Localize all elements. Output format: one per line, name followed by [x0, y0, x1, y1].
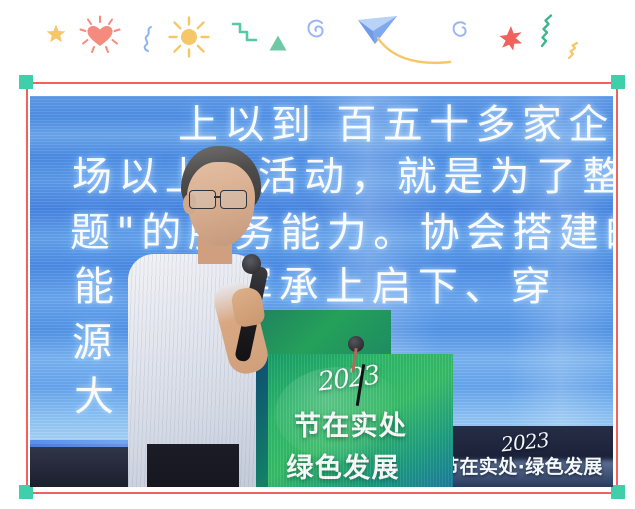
star-icon	[44, 22, 68, 46]
spiral-icon	[305, 18, 329, 44]
stage-banner: 2023 节在实处·绿色发展	[438, 426, 613, 487]
heart-burst-icon	[78, 14, 122, 58]
frame-corner-top-right	[611, 75, 625, 89]
speaker-trousers	[147, 444, 239, 487]
squiggle-icon	[142, 26, 156, 52]
zigzag-icon	[232, 22, 258, 44]
frame-corner-bottom-right	[611, 485, 625, 499]
eyeglasses-icon	[189, 190, 251, 207]
frame-line-right	[616, 82, 618, 494]
frame-line-bottom	[26, 492, 618, 494]
frame-corner-top-left	[19, 75, 33, 89]
doodle-decoration-band	[0, 0, 635, 76]
frame-line-top	[26, 82, 618, 84]
frame-line-left	[26, 82, 28, 494]
eyeglasses-lens-right	[220, 190, 247, 209]
zigzag-green-icon	[540, 14, 566, 48]
star-red-icon	[497, 24, 525, 52]
conference-speaker-photo: 上以到 百五十多家企 场以上的活动，就是为了整合 题"的服务能力。协会搭建的节 …	[30, 96, 613, 487]
triangle-icon	[268, 34, 288, 52]
stage-banner-text: 节在实处·绿色发展	[440, 452, 603, 479]
speaker-person	[112, 136, 322, 487]
zigzag-yellow-icon	[568, 42, 590, 60]
plane-trail-icon	[376, 36, 452, 70]
spiral-small-icon	[451, 20, 471, 42]
podium-mark: 2023	[316, 360, 380, 397]
frame-corner-bottom-left	[19, 485, 33, 499]
sun-icon	[168, 16, 210, 58]
eyeglasses-lens-left	[189, 190, 216, 209]
page-root: 上以到 百五十多家企 场以上的活动，就是为了整合 题"的服务能力。协会搭建的节 …	[0, 0, 635, 509]
